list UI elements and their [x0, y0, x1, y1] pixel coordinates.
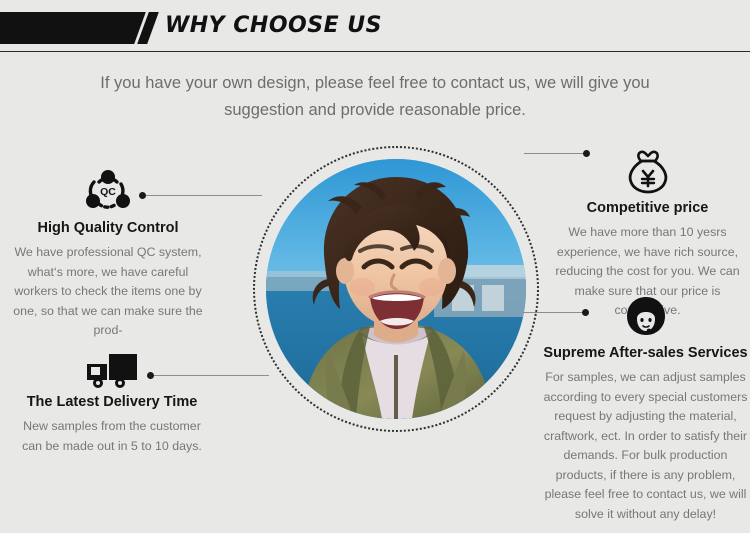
money-bag-icon	[625, 150, 671, 194]
header-divider	[0, 51, 750, 52]
delivery-truck-icon	[85, 352, 139, 388]
feature-title-quality: High Quality Control	[8, 220, 208, 236]
feature-after-sales-services: Supreme After-sales Services For samples…	[543, 295, 748, 524]
page-header: WHY CHOOSE US	[0, 0, 750, 56]
subtitle-text: If you have your own design, please feel…	[95, 70, 655, 124]
page-title: WHY CHOOSE US	[165, 13, 382, 38]
center-photo	[266, 159, 526, 419]
feature-title-delivery: The Latest Delivery Time	[12, 394, 212, 410]
feature-body-quality: We have professional QC system, what‘s m…	[8, 243, 208, 341]
feature-body-support: For samples, we can adjust samples accor…	[543, 368, 748, 524]
svg-text:QC: QC	[100, 186, 116, 198]
qc-circles-icon: QC	[85, 170, 131, 214]
feature-title-price: Competitive price	[545, 200, 750, 216]
header-accent-bar	[0, 12, 146, 44]
feature-title-support: Supreme After-sales Services	[543, 345, 748, 361]
headset-support-icon	[623, 295, 669, 339]
feature-body-delivery: New samples from the customer can be mad…	[12, 417, 212, 456]
feature-high-quality-control: QC High Quality Control We have professi…	[8, 170, 208, 341]
feature-latest-delivery-time: The Latest Delivery Time New samples fro…	[12, 352, 212, 456]
center-photo-image	[266, 159, 526, 419]
